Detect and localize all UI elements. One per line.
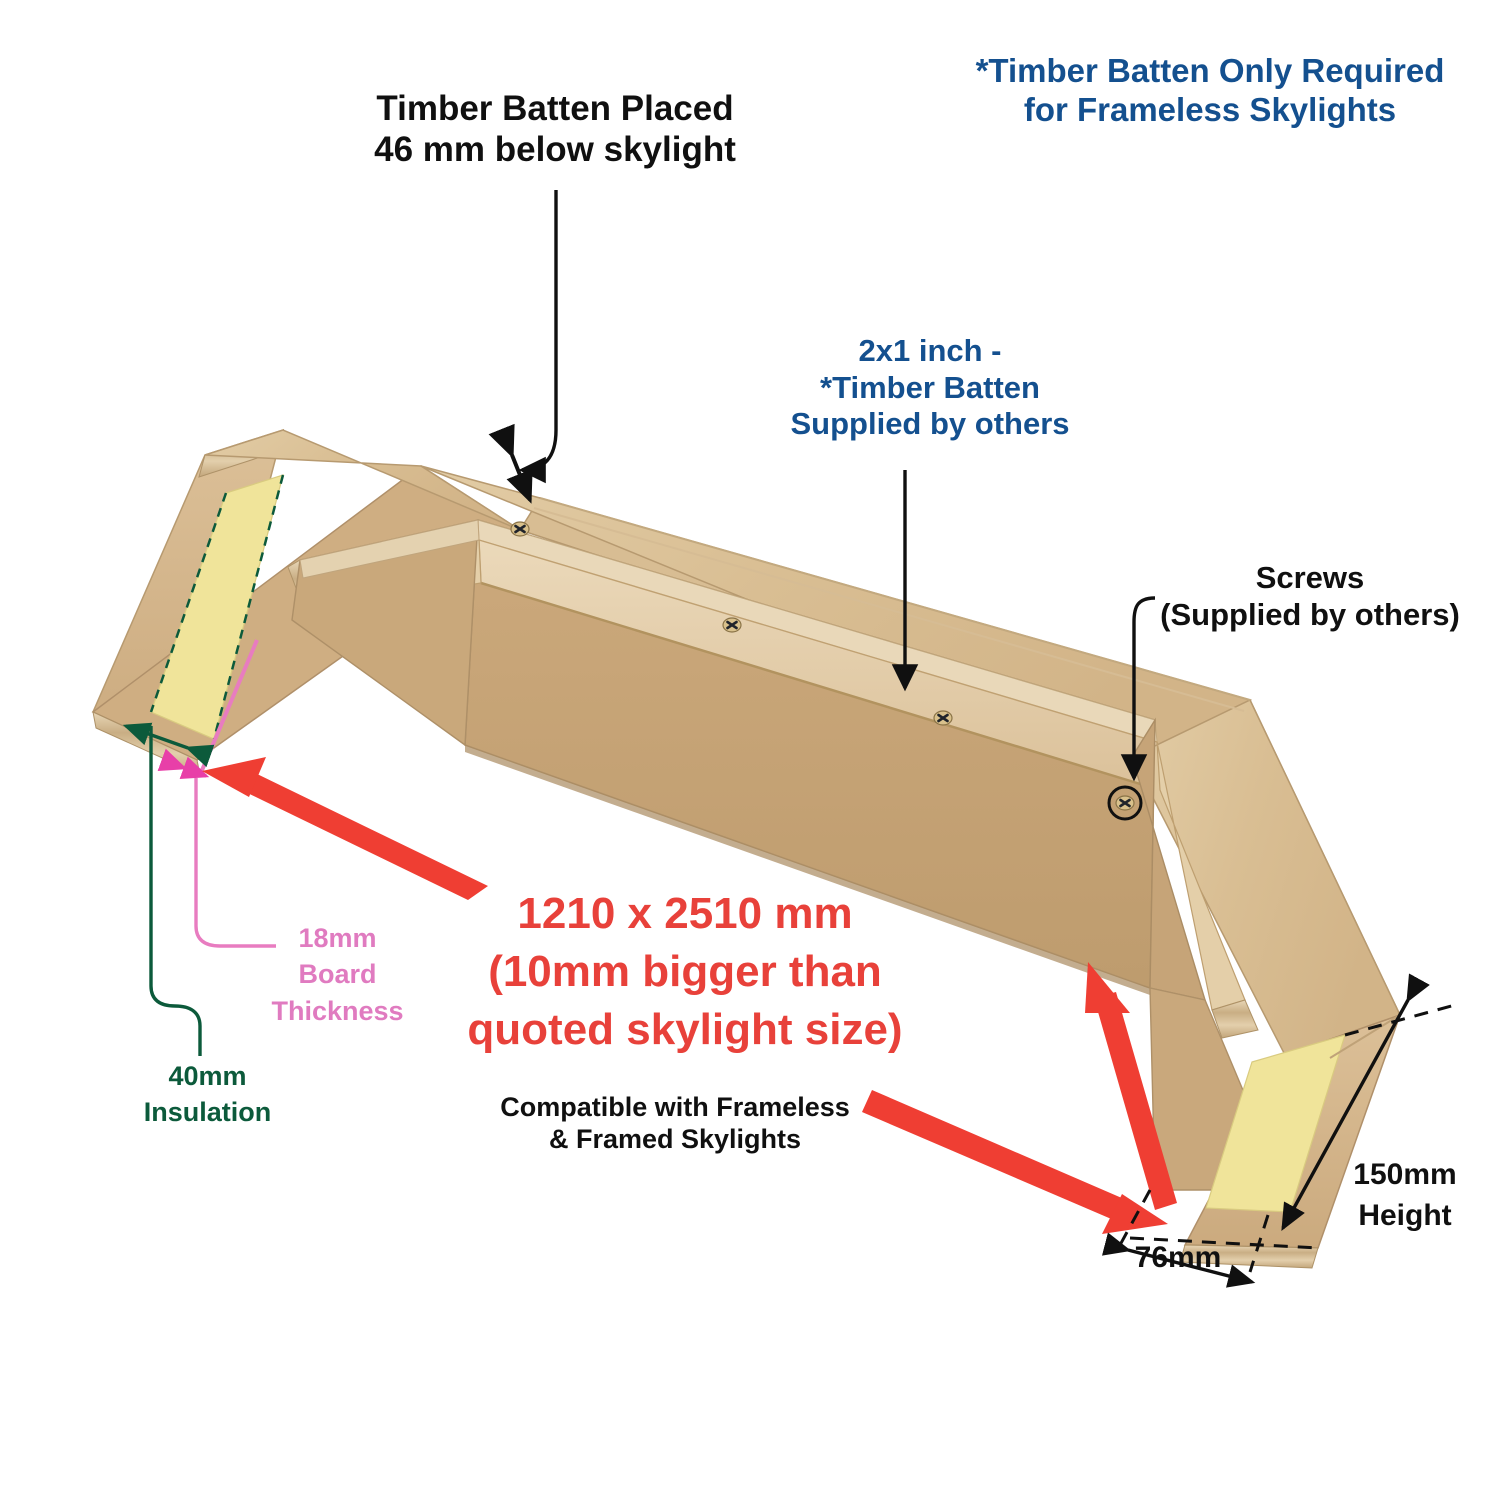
label-frameless-note: *Timber Batten Only Required for Framele…	[930, 52, 1490, 130]
label-compatibility: Compatible with Frameless & Framed Skyli…	[450, 1092, 900, 1156]
label-line-1: 1210 x 2510 mm	[517, 889, 852, 938]
diagram-canvas: Timber Batten Placed 46 mm below skyligh…	[0, 0, 1500, 1500]
label-screws: Screws (Supplied by others)	[1120, 560, 1500, 633]
label-line-2: Height	[1358, 1199, 1451, 1232]
label-line-1: Compatible with Frameless	[500, 1092, 850, 1122]
label-batten-spec: 2x1 inch - *Timber Batten Supplied by ot…	[770, 333, 1090, 443]
label-line-2: *Timber Batten	[820, 370, 1040, 405]
label-line-3: quoted skylight size)	[467, 1005, 902, 1054]
kerb-3d-illustration	[0, 0, 1500, 1500]
screw-head-icon	[723, 618, 741, 632]
label-line-2: & Framed Skylights	[549, 1124, 801, 1154]
label-line-2: Board	[298, 959, 376, 989]
label-line-1: 18mm	[298, 923, 376, 953]
red-arrow-left	[202, 757, 488, 900]
label-line-1: Timber Batten Placed	[376, 89, 733, 128]
dimension-insulation-green	[126, 726, 200, 1056]
label-width-dimension: 76mm	[1118, 1240, 1238, 1275]
leader-batten-placed	[522, 190, 556, 470]
label-board-thickness: 18mm Board Thickness	[255, 920, 420, 1029]
label-line-1: Screws	[1256, 560, 1365, 595]
label-line-2: 46 mm below skylight	[374, 130, 736, 169]
label-line-1: 76mm	[1135, 1241, 1222, 1274]
label-line-2: (10mm bigger than	[488, 947, 882, 996]
screw-head-icon	[934, 711, 952, 725]
label-height-dimension: 150mm Height	[1325, 1155, 1485, 1236]
label-line-1: 2x1 inch -	[859, 333, 1002, 368]
label-line-3: Thickness	[271, 996, 403, 1026]
label-line-1: 40mm	[168, 1061, 246, 1091]
label-timber-batten-placed: Timber Batten Placed 46 mm below skyligh…	[330, 88, 780, 171]
label-size-callout: 1210 x 2510 mm (10mm bigger than quoted …	[400, 885, 970, 1059]
screw-head-icon	[511, 522, 529, 536]
label-line-2: for Frameless Skylights	[1024, 91, 1396, 128]
label-line-1: *Timber Batten Only Required	[976, 52, 1445, 89]
red-arrow-lower-right	[862, 1090, 1168, 1234]
label-line-3: Supplied by others	[790, 406, 1069, 441]
label-insulation: 40mm Insulation	[120, 1058, 295, 1131]
insulation-leader	[151, 726, 200, 1056]
label-line-2: Insulation	[144, 1097, 272, 1127]
label-line-2: (Supplied by others)	[1160, 597, 1460, 632]
label-line-1: 150mm	[1353, 1158, 1456, 1191]
